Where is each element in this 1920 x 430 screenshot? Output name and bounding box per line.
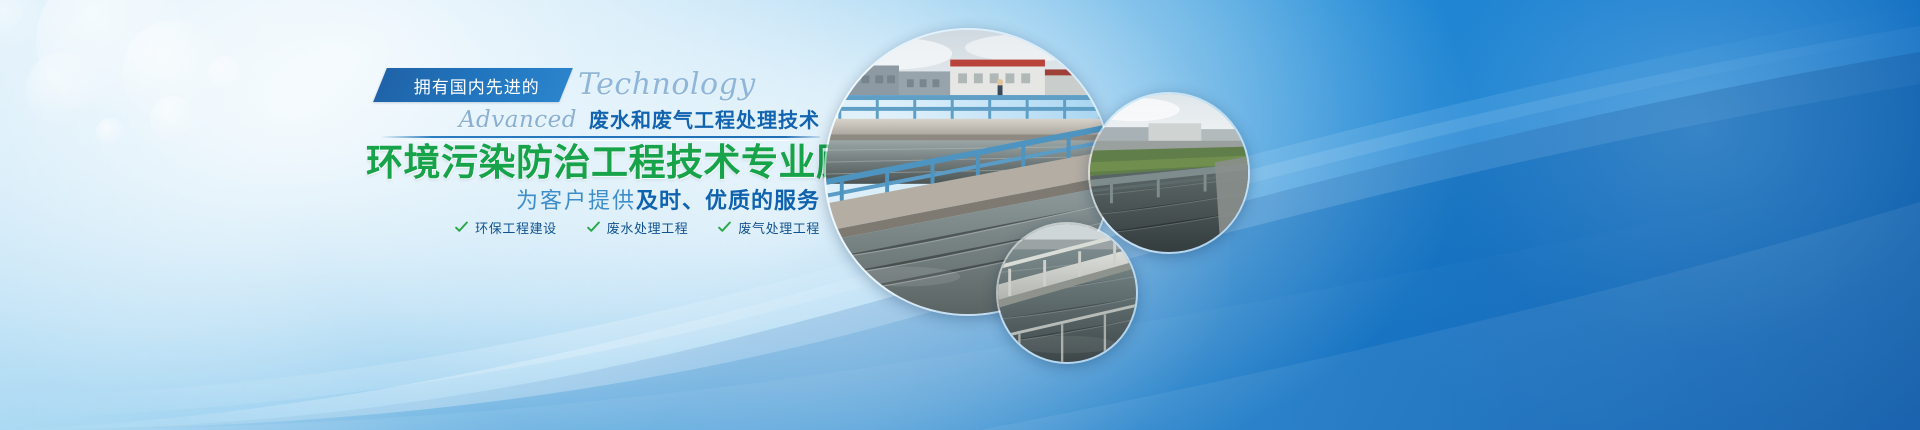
aeration-basin-photo [996,222,1138,364]
headline: 环境污染防治工程技术专业顾问 [366,141,820,185]
feature-item: 废水处理工程 [587,218,689,237]
check-icon [718,221,731,234]
subtitle: 为客户提供及时、优质的服务 [366,186,820,217]
subline-en-text: Advanced [459,107,577,133]
feature-label: 废气处理工程 [738,218,820,237]
background-glow-right [1320,0,1920,430]
treatment-tank-photo [1088,92,1250,254]
check-icon [587,221,600,234]
check-icon [455,221,468,234]
subtitle-strong-part: 及时、优质的服务 [636,188,820,214]
feature-item: 环保工程建设 [455,218,557,237]
tagline-badge: 拥有国内先进的 [373,68,573,102]
subtitle-light-part: 为客户提供 [516,189,636,214]
tagline-cn-text: 拥有国内先进的 [414,73,540,98]
subline-cn-text: 废水和废气工程处理技术 [589,104,820,133]
banner-copy-block: 拥有国内先进的 Technology Advanced 废水和废气工程处理技术 … [0,0,830,430]
tagline-row: 拥有国内先进的 Technology [380,68,756,102]
divider-line-blue [380,136,820,138]
feature-item: 废气处理工程 [718,218,820,237]
promo-banner: 拥有国内先进的 Technology Advanced 废水和废气工程处理技术 … [0,0,1920,430]
feature-label: 环保工程建设 [475,218,557,237]
feature-label: 废水处理工程 [607,218,689,237]
feature-list: 环保工程建设 废水处理工程 废气处理工程 [366,218,820,237]
tagline-en-text: Technology [578,68,756,102]
subline-row: Advanced 废水和废气工程处理技术 [380,104,820,133]
